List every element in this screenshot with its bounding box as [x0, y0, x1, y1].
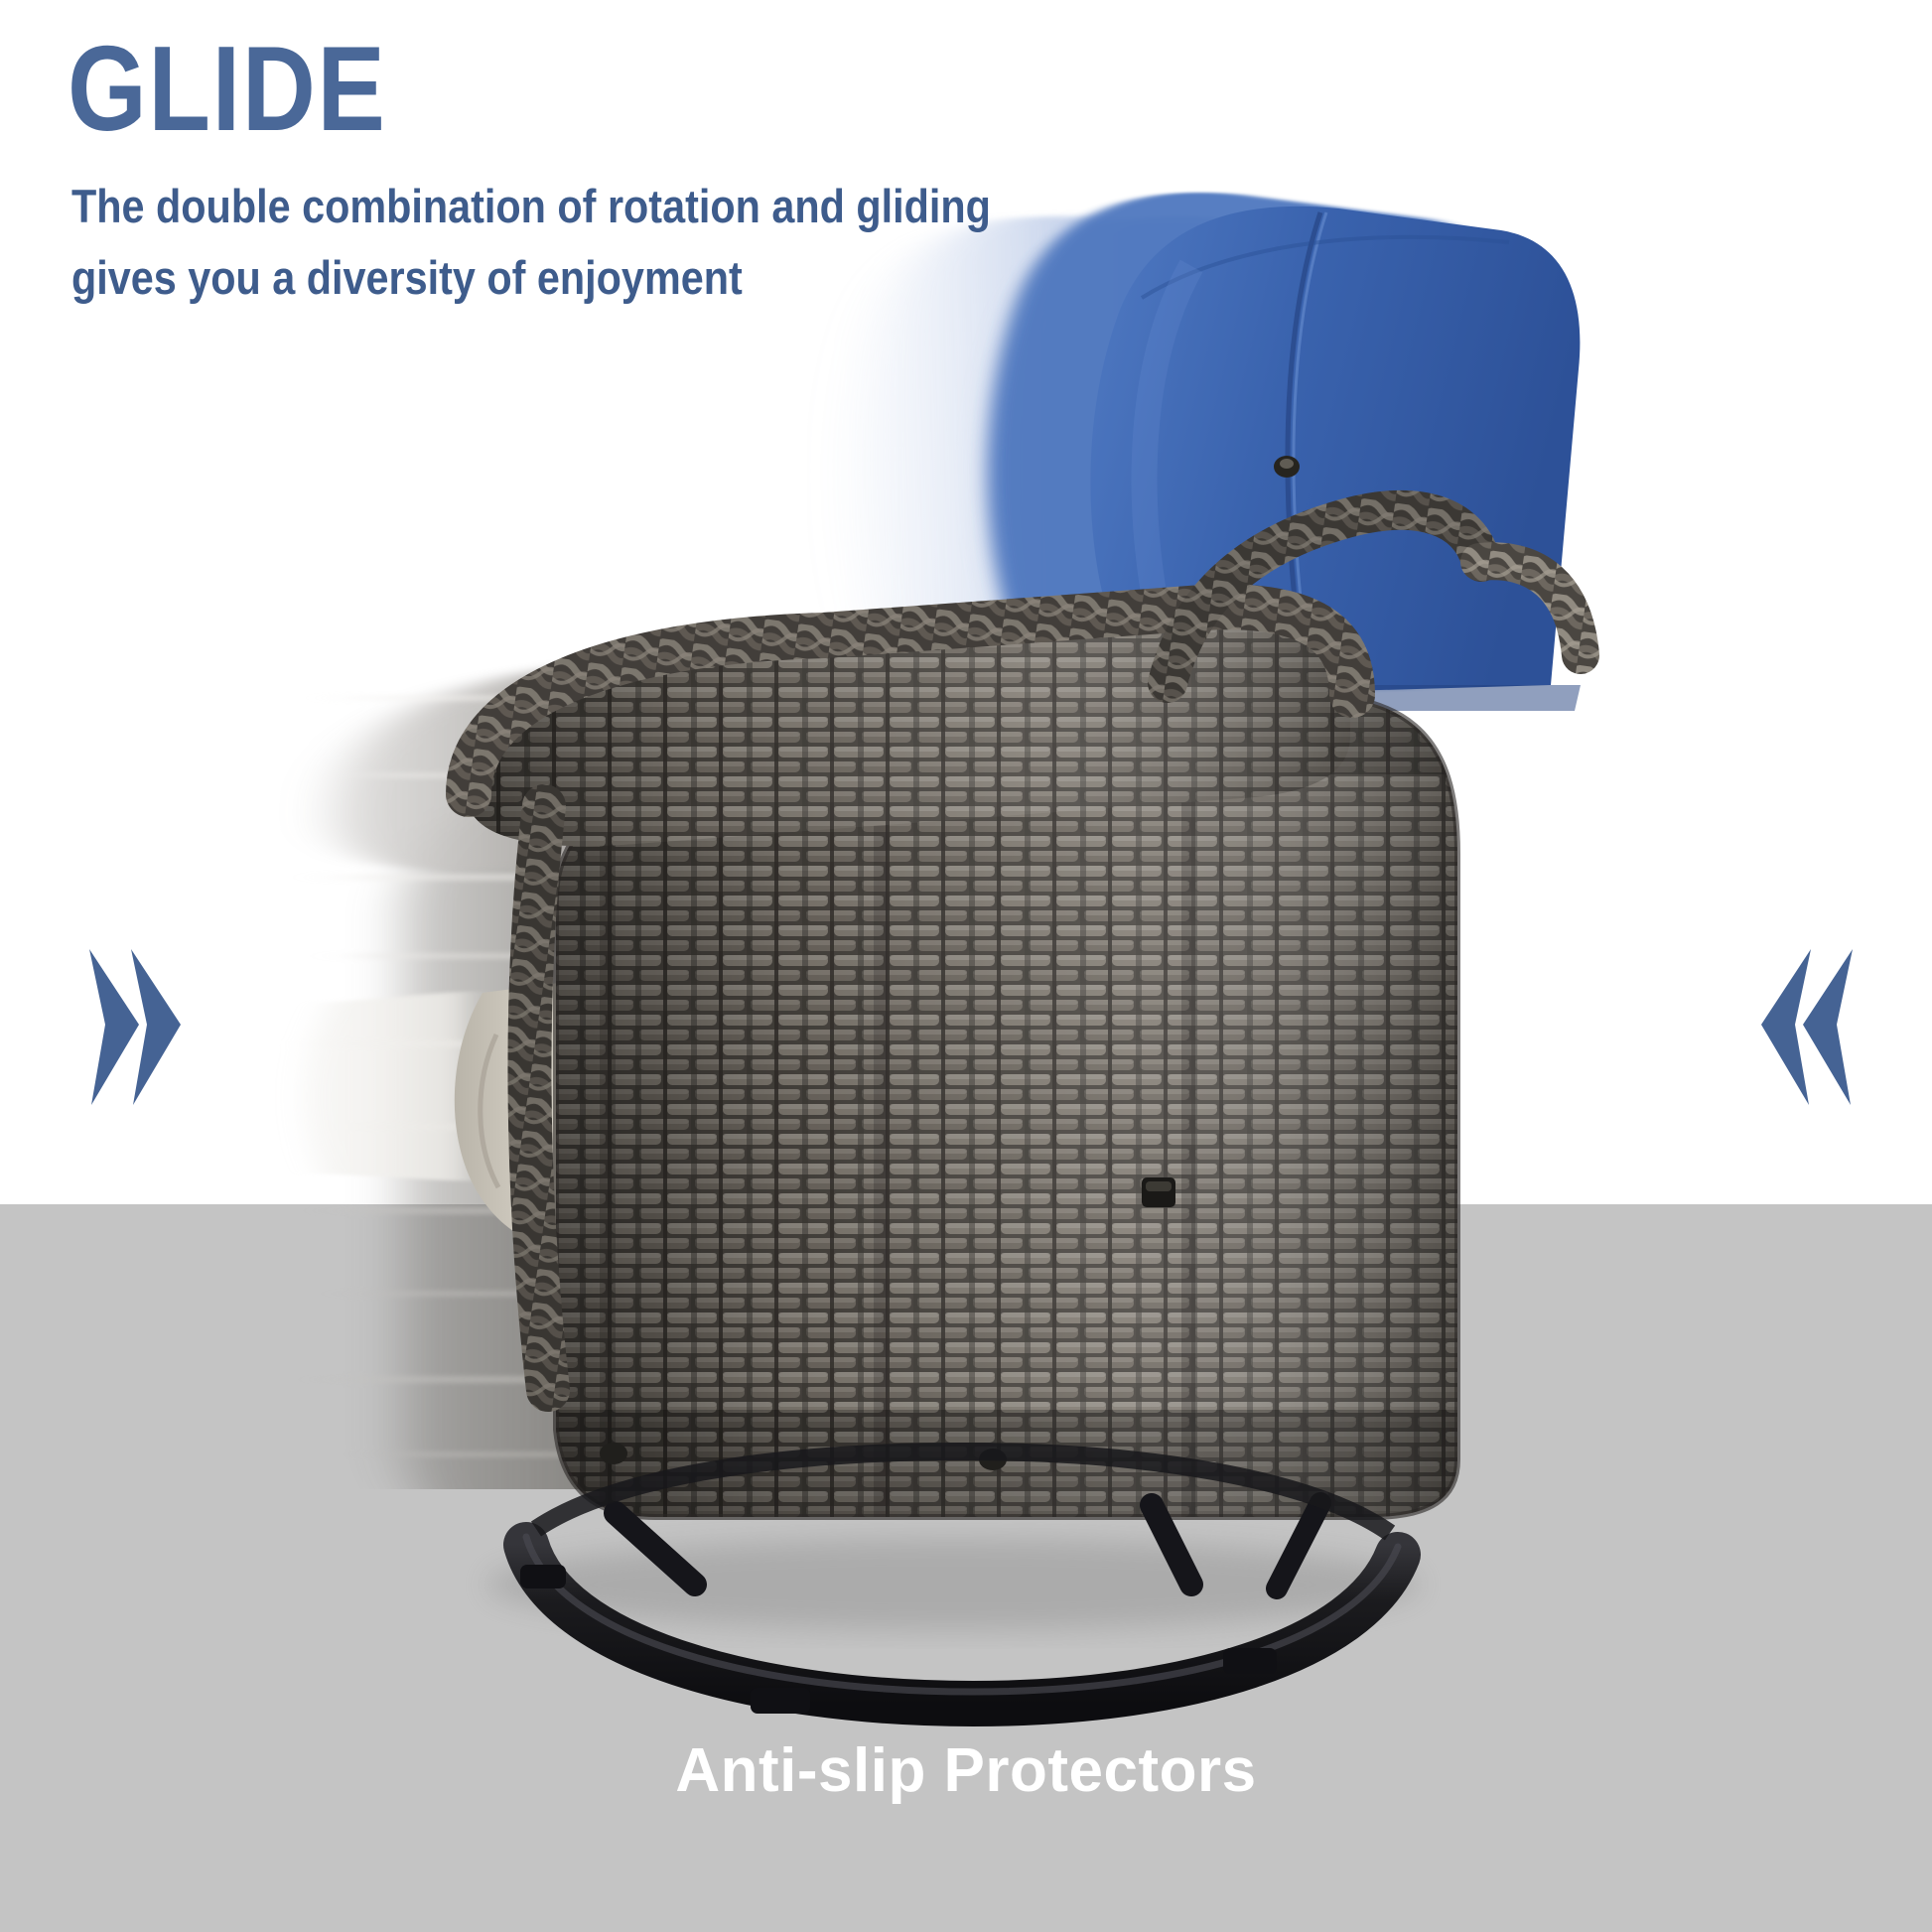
double-chevron-right-icon: [83, 945, 193, 1109]
subtitle-line-2: gives you a diversity of enjoyment: [71, 250, 743, 305]
marketing-image: GLIDE The double combination of rotation…: [0, 0, 1932, 1932]
anti-slip-caption: Anti-slip Protectors: [0, 1735, 1932, 1806]
page-title: GLIDE: [68, 28, 387, 149]
subtitle-line-1: The double combination of rotation and g…: [71, 179, 991, 233]
double-chevron-left-icon: [1749, 945, 1859, 1109]
